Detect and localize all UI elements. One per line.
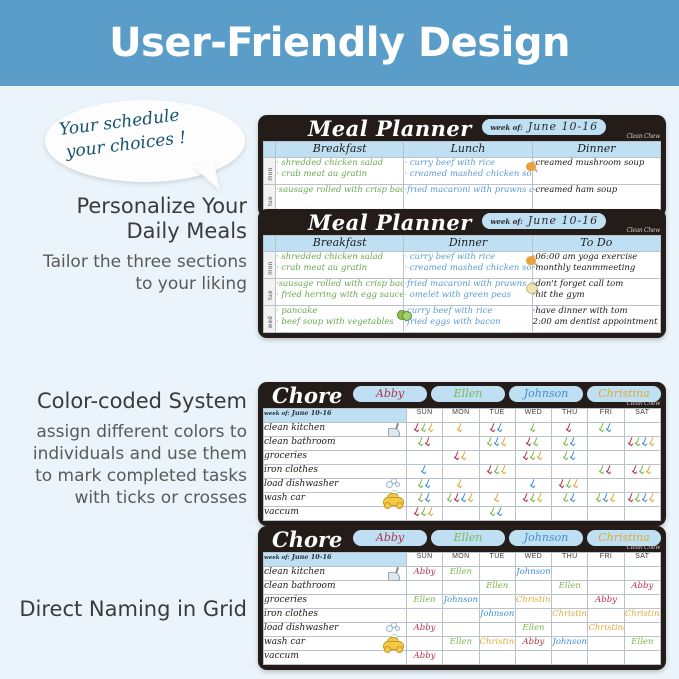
tick-mark-christina[interactable] <box>428 423 435 432</box>
tick-mark-ellen[interactable] <box>599 465 606 474</box>
tick-mark-johnson[interactable] <box>425 479 432 488</box>
tick-mark-ellen[interactable] <box>447 493 454 502</box>
chore-mark-cell[interactable] <box>624 423 660 437</box>
chore-task-name[interactable]: groceries <box>264 451 407 465</box>
body-line-2: to your liking <box>135 274 247 294</box>
assignee-name: Ellen <box>450 637 472 647</box>
tick-mark-ellen[interactable] <box>530 423 537 432</box>
chore-task-name[interactable]: iron clothes <box>264 465 407 479</box>
chore-name-cell[interactable]: Ellen <box>515 623 551 637</box>
chore-name-cell[interactable] <box>588 637 624 651</box>
chore-name-cell[interactable]: Abby <box>588 595 624 609</box>
chore-mark-cell[interactable] <box>406 507 442 521</box>
day-header-thu: THU <box>552 409 588 423</box>
tick-mark-ellen[interactable] <box>530 451 537 460</box>
chore-mark-cell[interactable] <box>588 507 624 521</box>
brand-logo: Clean Chew <box>626 227 660 234</box>
day-header-sun: SUN <box>406 553 442 567</box>
chore-name-cell[interactable] <box>552 567 588 581</box>
chore-mark-cell[interactable] <box>443 479 479 493</box>
speech-bubble-tail <box>182 161 220 197</box>
person-name: Abby <box>376 531 404 544</box>
feature-block-color-coded: Color-coded System assign different colo… <box>9 389 247 509</box>
chore-name-cell[interactable] <box>443 623 479 637</box>
meal-cell[interactable]: · curry beef with rice· creamed mashed c… <box>404 158 532 185</box>
chore-name-cell[interactable] <box>588 581 624 595</box>
chore-mark-cell[interactable] <box>479 507 515 521</box>
chore-name-cell[interactable]: Johnson <box>515 567 551 581</box>
tick-mark-johnson[interactable] <box>603 493 610 502</box>
tick-mark-christina[interactable] <box>537 493 544 502</box>
meal-entry: ·sausage rolled with crisp bacon <box>276 185 403 196</box>
chore-mark-cell[interactable] <box>406 479 442 493</box>
feature-body-personalize: Tailor the three sections to your liking <box>9 251 247 295</box>
chore-mark-cell[interactable] <box>552 423 588 437</box>
chore-mark-cell[interactable] <box>406 465 442 479</box>
chore-name-cell[interactable] <box>443 609 479 623</box>
week-of-label: week of: <box>490 217 522 226</box>
day-header-tue: TUE <box>479 553 515 567</box>
meal-cell[interactable]: ·06:00 am yoga exercise·monthly teanmmee… <box>532 252 660 279</box>
day-header-sat: SAT <box>624 553 660 567</box>
tick-mark-ellen[interactable] <box>418 479 425 488</box>
tick-mark-christina[interactable] <box>610 493 617 502</box>
chore-name-cell[interactable]: Johnson <box>443 595 479 609</box>
chore-name-cell[interactable]: Christina <box>515 595 551 609</box>
tick-mark-christina[interactable] <box>646 465 653 474</box>
chore-name-cell[interactable] <box>624 651 660 665</box>
week-of-value: June 10-16 <box>528 214 598 227</box>
person-pill-ellen[interactable]: Ellen <box>431 530 505 546</box>
chore-row: groceries <box>264 451 661 465</box>
assignee-name: Christina <box>552 609 588 619</box>
tick-mark-abby[interactable] <box>487 465 494 474</box>
meal-entry: · shredded chicken salad <box>276 158 403 169</box>
meal-entry: ·06:00 am yoga exercise <box>533 252 660 263</box>
chore-task-name[interactable]: wash car <box>264 493 407 507</box>
chore-row: groceriesEllenJohnsonChristinaAbby <box>264 595 661 609</box>
chore-mark-cell[interactable] <box>479 451 515 465</box>
chore-name-cell[interactable] <box>552 623 588 637</box>
broom-icon <box>387 567 403 580</box>
meal-cell[interactable]: · shredded chicken salad· crab meat au g… <box>276 252 404 279</box>
tick-mark-johnson[interactable] <box>606 423 613 432</box>
chore-mark-cell[interactable] <box>552 507 588 521</box>
tick-mark-christina[interactable] <box>457 479 464 488</box>
week-of-cell[interactable]: week of: June 10-16 <box>264 409 407 423</box>
left-text-column: Your schedule your choices ! Personalize… <box>0 86 255 679</box>
person-pill-johnson[interactable]: Johnson <box>509 530 583 546</box>
tick-mark-christina[interactable] <box>649 437 656 446</box>
tick-mark-abby[interactable] <box>523 493 530 502</box>
meal-entry: · shredded chicken salad <box>276 252 403 263</box>
soapy-car-icon <box>382 635 404 651</box>
meal-column-header-breakfast: Breakfast <box>276 142 404 158</box>
chore-row: wash carEllenChristinaAbbyJohnsonEllen <box>264 637 661 651</box>
meal-row: wed· pancake· beef soup with vegetables·… <box>264 306 661 333</box>
meal-cell[interactable]: ·creamed ham soup <box>532 185 660 212</box>
day-header-sun: SUN <box>406 409 442 423</box>
chore-name-cell[interactable] <box>479 595 515 609</box>
person-pill-abby[interactable]: Abby <box>353 386 427 402</box>
chore-mark-cell[interactable] <box>624 465 660 479</box>
chore-mark-cell[interactable] <box>406 493 442 507</box>
person-pill-johnson[interactable]: Johnson <box>509 386 583 402</box>
task-label: clean bathroom <box>264 581 335 591</box>
week-of-value: June 10-16 <box>292 553 332 561</box>
chore-mark-cell[interactable] <box>515 423 551 437</box>
tick-mark-ellen[interactable] <box>533 437 540 446</box>
meal-entry: · crab meat au gratin <box>276 263 403 274</box>
meal-column-header-to-do: To Do <box>532 236 660 252</box>
assignee-name: Ellen <box>486 581 508 591</box>
tick-mark-ellen[interactable] <box>639 465 646 474</box>
chore-mark-cell[interactable] <box>443 507 479 521</box>
brand-logo: Clean Chew <box>626 544 660 551</box>
person-name: Johnson <box>524 387 569 400</box>
soapy-car-icon <box>382 491 404 507</box>
tick-mark-ellen[interactable] <box>563 451 570 460</box>
meal-cell[interactable]: · pancake· beef soup with vegetables <box>276 306 404 333</box>
chore-mark-cell[interactable] <box>624 437 660 451</box>
meal-row: mon· shredded chicken salad· crab meat a… <box>264 158 661 185</box>
chore-mark-cell[interactable] <box>443 465 479 479</box>
tick-mark-christina[interactable] <box>468 493 475 502</box>
chore-task-name[interactable]: iron clothes <box>264 609 407 623</box>
week-of-cell[interactable]: week of: June 10-16 <box>264 553 407 567</box>
meal-entry: · curry beef with rice <box>404 252 531 263</box>
chore-name-cell[interactable]: Christina <box>479 637 515 651</box>
week-of-label: week of: <box>490 123 522 132</box>
tick-mark-christina[interactable] <box>537 451 544 460</box>
tick-mark-johnson[interactable] <box>494 437 501 446</box>
tick-mark-abby[interactable] <box>414 507 421 516</box>
tick-mark-ellen[interactable] <box>530 493 537 502</box>
day-column-spacer <box>264 142 276 158</box>
day-label-mon: mon <box>264 158 276 185</box>
day-header-mon: MON <box>443 409 479 423</box>
chore-mark-cell[interactable] <box>552 465 588 479</box>
chore-mark-cell[interactable] <box>552 451 588 465</box>
chore-name-cell[interactable] <box>406 581 442 595</box>
chore-mark-cell[interactable] <box>515 437 551 451</box>
tick-mark-ellen[interactable] <box>494 465 501 474</box>
task-label: clean kitchen <box>264 423 325 433</box>
tick-mark-abby[interactable] <box>566 423 573 432</box>
tick-mark-abby[interactable] <box>454 493 461 502</box>
assignee-name: Abby <box>414 651 436 661</box>
chore-name-cell[interactable] <box>624 595 660 609</box>
chore-name-cell[interactable]: Abby <box>624 581 660 595</box>
chore-mark-cell[interactable] <box>552 437 588 451</box>
meal-column-header-lunch: Lunch <box>404 142 532 158</box>
day-label-text: wed <box>268 306 274 338</box>
chore-name-cell[interactable]: Christina <box>588 623 624 637</box>
feature-block-direct-naming: Direct Naming in Grid <box>9 597 247 622</box>
tick-mark-ellen[interactable] <box>418 493 425 502</box>
board-header: Meal Plannerweek of:June 10-16Clean Chew <box>258 209 666 234</box>
chore-row: load dishwasherAbbyEllenChristina <box>264 623 661 637</box>
chore-row: clean bathroomEllenEllenAbby <box>264 581 661 595</box>
chore-name-cell[interactable]: Christina <box>552 609 588 623</box>
chore-task-name[interactable]: groceries <box>264 595 407 609</box>
meal-column-header-dinner: Dinner <box>404 236 532 252</box>
chore-mark-cell[interactable] <box>443 423 479 437</box>
assignee-name: Ellen <box>522 623 544 633</box>
tick-mark-johnson[interactable] <box>497 507 504 516</box>
chore-name-cell[interactable] <box>515 651 551 665</box>
task-label: groceries <box>264 595 307 605</box>
chore-mark-cell[interactable] <box>588 451 624 465</box>
chore-mark-cell[interactable] <box>479 493 515 507</box>
tick-mark-christina[interactable] <box>494 493 501 502</box>
assignee-name: Christina <box>588 623 624 633</box>
chore-name-cell[interactable]: Johnson <box>479 609 515 623</box>
chore-task-name[interactable]: clean kitchen <box>264 567 407 581</box>
chore-name-cell[interactable] <box>588 609 624 623</box>
meal-grid: BreakfastDinnerTo Domon· shredded chicke… <box>262 234 662 334</box>
chore-grid: week of: June 10-16SUNMONTUEWEDTHUFRISAT… <box>262 551 662 666</box>
assignee-name: Johnson <box>480 609 514 619</box>
tick-mark-johnson[interactable] <box>570 493 577 502</box>
tick-mark-ellen[interactable] <box>599 423 606 432</box>
tick-mark-johnson[interactable] <box>497 423 504 432</box>
page-body: Your schedule your choices ! Personalize… <box>0 86 679 679</box>
chore-mark-cell[interactable] <box>406 423 442 437</box>
chore-name-cell[interactable]: Ellen <box>443 637 479 651</box>
tick-mark-christina[interactable] <box>461 451 468 460</box>
chore-name-cell[interactable] <box>588 567 624 581</box>
tick-mark-johnson[interactable] <box>421 465 428 474</box>
chore-mark-cell[interactable] <box>443 493 479 507</box>
tick-mark-christina[interactable] <box>501 437 508 446</box>
chore-name-cell[interactable]: Abby <box>406 651 442 665</box>
tick-mark-johnson[interactable] <box>570 451 577 460</box>
chore-mark-cell[interactable] <box>479 423 515 437</box>
chore-mark-cell[interactable] <box>406 437 442 451</box>
meal-entry: · beef soup with vegetables <box>276 317 403 328</box>
body-line-2: individuals and use them <box>33 444 247 464</box>
day-label-tue: tue <box>264 279 276 306</box>
feature-block-personalize: Personalize Your Daily Meals Tailor the … <box>9 194 247 295</box>
person-name: Christina <box>598 531 650 544</box>
tick-mark-ellen[interactable] <box>421 423 428 432</box>
chore-name-cell[interactable]: Ellen <box>406 595 442 609</box>
chore-mark-cell[interactable] <box>479 437 515 451</box>
tick-mark-christina[interactable] <box>501 465 508 474</box>
body-line-1: assign different colors to <box>36 422 247 442</box>
meal-entry: · curry beef with rice <box>404 158 531 169</box>
tick-mark-abby[interactable] <box>523 451 530 460</box>
meal-entry: ·fried macaroni with prawns and eggs <box>404 279 531 290</box>
meal-cell[interactable]: ·have dinner with tom2:00 am dentist app… <box>532 306 660 333</box>
task-label: vaccum <box>264 651 299 661</box>
chore-name-cell[interactable]: Abby <box>406 567 442 581</box>
chore-mark-cell[interactable] <box>406 451 442 465</box>
brand-logo: Clean Chew <box>626 133 660 140</box>
chore-mark-cell[interactable] <box>624 479 660 493</box>
meal-cell[interactable]: ·curry beef with rice·fried eggs with ba… <box>404 306 532 333</box>
meal-cell[interactable]: ·creamed mushroom soup <box>532 158 660 185</box>
chore-mark-cell[interactable] <box>515 493 551 507</box>
chore-mark-cell[interactable] <box>515 451 551 465</box>
assignee-name: Christina <box>625 609 661 619</box>
chore-mark-cell[interactable] <box>443 437 479 451</box>
chore-mark-cell[interactable] <box>552 493 588 507</box>
chore-task-name[interactable]: clean bathroom <box>264 437 407 451</box>
tick-mark-abby[interactable] <box>454 451 461 460</box>
chore-name-cell[interactable] <box>515 581 551 595</box>
chore-name-cell[interactable] <box>443 581 479 595</box>
tick-mark-christina[interactable] <box>573 479 580 488</box>
chore-name-cell[interactable] <box>479 651 515 665</box>
day-label-wed: wed <box>264 306 276 333</box>
chore-mark-cell[interactable] <box>588 465 624 479</box>
chore-name-cell[interactable] <box>479 567 515 581</box>
week-of-pill[interactable]: week of:June 10-16 <box>482 119 606 135</box>
tick-mark-christina[interactable] <box>649 493 656 502</box>
tick-mark-ellen[interactable] <box>418 437 425 446</box>
chore-mark-cell[interactable] <box>515 465 551 479</box>
tick-mark-christina[interactable] <box>457 423 464 432</box>
assignee-name: Johnson <box>516 567 550 577</box>
chore-task-name[interactable]: vaccum <box>264 507 407 521</box>
chore-name-cell[interactable] <box>443 651 479 665</box>
chore-name-cell[interactable]: Johnson <box>552 637 588 651</box>
chore-mark-cell[interactable] <box>479 465 515 479</box>
meal-entry: · creamed mashed chicken soup <box>404 169 531 180</box>
chore-name-cell[interactable] <box>624 567 660 581</box>
chore-task-name[interactable]: clean bathroom <box>264 581 407 595</box>
task-label: groceries <box>264 451 307 461</box>
chore-name-cell[interactable]: Abby <box>515 637 551 651</box>
chore-name-cell[interactable]: Ellen <box>443 567 479 581</box>
day-column-spacer <box>264 236 276 252</box>
day-header-wed: WED <box>515 409 551 423</box>
chore-mark-cell[interactable] <box>624 493 660 507</box>
chore-mark-cell[interactable] <box>588 437 624 451</box>
tick-mark-abby[interactable] <box>425 437 432 446</box>
chore-name-cell[interactable] <box>552 651 588 665</box>
tick-mark-ellen[interactable] <box>487 437 494 446</box>
person-pill-ellen[interactable]: Ellen <box>431 386 505 402</box>
meal-cell[interactable]: ·sausage rolled with crisp bacon <box>276 185 404 212</box>
tick-mark-ellen[interactable] <box>596 493 603 502</box>
person-pill-abby[interactable]: Abby <box>353 530 427 546</box>
meal-entry: ·monthly teanmmeeting <box>533 263 660 274</box>
assignee-name: Abby <box>523 637 545 647</box>
person-name: Ellen <box>454 387 483 400</box>
assignee-name: Abby <box>595 595 617 605</box>
chore-mark-cell[interactable] <box>552 479 588 493</box>
feature-heading-personalize: Personalize Your Daily Meals <box>9 194 247 244</box>
chore-name-cell[interactable] <box>624 623 660 637</box>
tick-mark-ellen[interactable] <box>563 493 570 502</box>
chore-mark-cell[interactable] <box>588 479 624 493</box>
tick-mark-abby[interactable] <box>632 465 639 474</box>
tick-mark-johnson[interactable] <box>570 437 577 446</box>
week-of-value: June 10-16 <box>528 120 598 133</box>
tick-mark-abby[interactable] <box>606 465 613 474</box>
task-label: wash car <box>264 493 305 503</box>
assignee-name: Ellen <box>450 567 472 577</box>
body-line-3: to mark completed tasks <box>35 466 247 486</box>
assignee-name: Christina <box>480 637 516 647</box>
chore-name-cell[interactable] <box>479 623 515 637</box>
tick-mark-ellen[interactable] <box>563 437 570 446</box>
tick-mark-johnson[interactable] <box>530 479 537 488</box>
chore-task-name[interactable]: wash car <box>264 637 407 651</box>
tick-mark-johnson[interactable] <box>461 493 468 502</box>
tick-mark-ellen[interactable] <box>421 507 428 516</box>
day-header-tue: TUE <box>479 409 515 423</box>
meal-row: tue·sausage rolled with crisp bacon·frie… <box>264 185 661 212</box>
chore-mark-cell[interactable] <box>479 479 515 493</box>
task-label: iron clothes <box>264 609 318 619</box>
meal-cell[interactable]: · curry beef with rice· creamed mashed c… <box>404 252 532 279</box>
task-label: clean bathroom <box>264 437 335 447</box>
chore-task-name[interactable]: clean kitchen <box>264 423 407 437</box>
chore-mark-cell[interactable] <box>588 493 624 507</box>
meal-column-header-dinner: Dinner <box>532 142 660 158</box>
meal-cell[interactable]: ·fried macaroni with prawns and eggs <box>404 185 532 212</box>
chore-mark-cell[interactable] <box>624 451 660 465</box>
chore-mark-cell[interactable] <box>624 507 660 521</box>
meal-cell[interactable]: ·don't forget call tom·hit the gym <box>532 279 660 306</box>
chore-mark-cell[interactable] <box>515 479 551 493</box>
meal-column-header-breakfast: Breakfast <box>276 236 404 252</box>
chore-name-cell[interactable]: Ellen <box>624 637 660 651</box>
week-of-value: June 10-16 <box>292 409 332 417</box>
meal-cell[interactable]: · shredded chicken salad· crab meat au g… <box>276 158 404 185</box>
chore-name-cell[interactable]: Ellen <box>552 581 588 595</box>
chore-name-cell[interactable] <box>552 595 588 609</box>
tick-mark-christina[interactable] <box>428 507 435 516</box>
bubbles-icon <box>384 622 402 634</box>
brand-logo: Clean Chew <box>626 400 660 407</box>
meal-entry: · crab meat au gratin <box>276 169 403 180</box>
chore-row: vaccumAbby <box>264 651 661 665</box>
chore-name-cell[interactable] <box>406 637 442 651</box>
chore-name-cell[interactable] <box>588 651 624 665</box>
tick-mark-abby[interactable] <box>414 423 421 432</box>
chore-row: load dishwasher <box>264 479 661 493</box>
chore-mark-cell[interactable] <box>588 423 624 437</box>
body-line-4: with ticks or crosses <box>75 488 248 508</box>
meal-cell[interactable]: ·fried macaroni with prawns and eggs· om… <box>404 279 532 306</box>
chore-name-cell[interactable]: Ellen <box>479 581 515 595</box>
chore-name-cell[interactable] <box>515 609 551 623</box>
person-name: Christina <box>598 387 650 400</box>
week-of-pill[interactable]: week of:June 10-16 <box>482 213 606 229</box>
week-of-label: week of: <box>264 411 290 417</box>
meal-entry: ·hit the gym <box>533 290 660 301</box>
chore-mark-cell[interactable] <box>515 507 551 521</box>
chore-row: vaccum <box>264 507 661 521</box>
meal-cell[interactable]: ·sausage rolled with crisp bacon· fried … <box>276 279 404 306</box>
day-label-mon: mon <box>264 252 276 279</box>
meal-entry: ·fried macaroni with prawns and eggs <box>404 185 531 196</box>
chore-name-cell[interactable] <box>406 609 442 623</box>
tick-mark-johnson[interactable] <box>425 493 432 502</box>
meal-entry: ·curry beef with rice <box>404 306 531 317</box>
chore-task-name[interactable]: vaccum <box>264 651 407 665</box>
chore-mark-cell[interactable] <box>443 451 479 465</box>
day-header-wed: WED <box>515 553 551 567</box>
chore-name-cell[interactable]: Christina <box>624 609 660 623</box>
chore-name-cell[interactable]: Abby <box>406 623 442 637</box>
person-name: Ellen <box>454 531 483 544</box>
